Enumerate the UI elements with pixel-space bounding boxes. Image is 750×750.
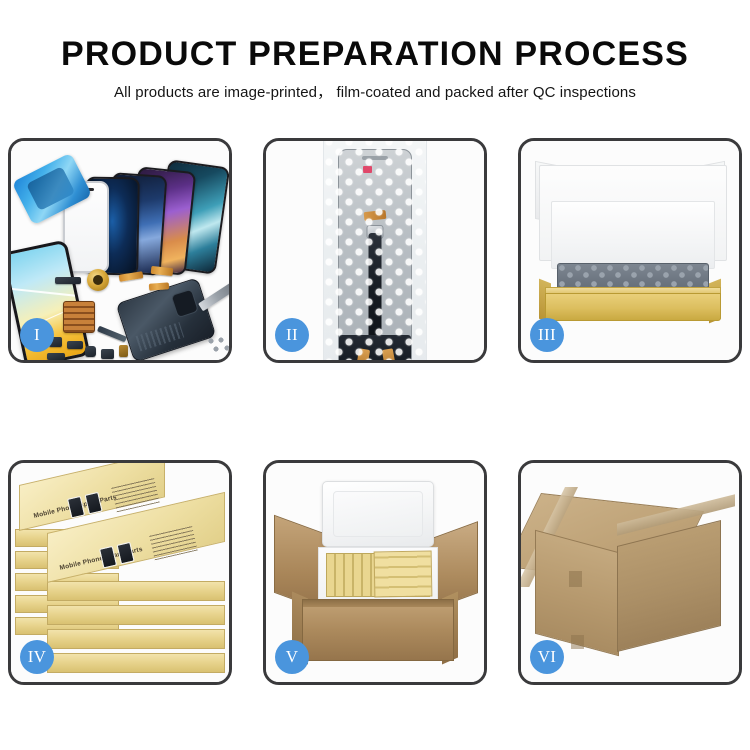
foam-lid xyxy=(322,481,434,547)
flex-cable xyxy=(149,282,169,290)
carton-seam xyxy=(571,635,584,649)
kapton-tape xyxy=(382,348,397,360)
qc-red-mark xyxy=(363,166,372,173)
process-step-grid: I II xyxy=(8,138,742,685)
copper-coil xyxy=(87,269,109,291)
step-badge-v: V xyxy=(275,640,309,674)
step-badge-iv: IV xyxy=(20,640,54,674)
step-badge-ii: II xyxy=(275,318,309,352)
step-card-v[interactable]: V xyxy=(263,460,487,685)
step-badge-iii: III xyxy=(530,318,564,352)
kapton-tape xyxy=(355,348,370,360)
page-subtitle: All products are image-printed， film-coa… xyxy=(0,83,750,102)
screw-grid xyxy=(63,301,95,333)
carton-seam xyxy=(569,571,582,587)
carton-front xyxy=(302,599,454,661)
packed-yellow-boxes xyxy=(374,550,433,597)
bubble-wrap-sleeve xyxy=(323,141,427,360)
tray-front xyxy=(545,293,721,321)
component-chip xyxy=(67,341,83,349)
loose-screws xyxy=(207,337,229,355)
component-chip xyxy=(85,346,96,357)
step-card-vi[interactable]: VI xyxy=(518,460,742,685)
component-chip xyxy=(119,345,128,357)
step-card-i[interactable]: I xyxy=(8,138,232,363)
page-title: PRODUCT PREPARATION PROCESS xyxy=(0,34,750,74)
component-chip xyxy=(101,349,114,359)
product-preparation-infographic: PRODUCT PREPARATION PROCESS All products… xyxy=(0,0,750,750)
bottom-flex-board xyxy=(339,335,411,360)
step-card-iv[interactable]: Mobile Phone Spare Parts Mobile Phone Sp… xyxy=(8,460,232,685)
component-chip xyxy=(47,353,65,360)
component-chip xyxy=(55,277,81,284)
header: PRODUCT PREPARATION PROCESS All products… xyxy=(0,34,750,102)
step-card-iii[interactable]: III xyxy=(518,138,742,363)
step-badge-vi: VI xyxy=(530,640,564,674)
foam-sheet xyxy=(551,201,715,269)
ribbon-cable xyxy=(369,233,382,345)
step-card-ii[interactable]: II xyxy=(263,138,487,363)
step-badge-i: I xyxy=(20,318,54,352)
